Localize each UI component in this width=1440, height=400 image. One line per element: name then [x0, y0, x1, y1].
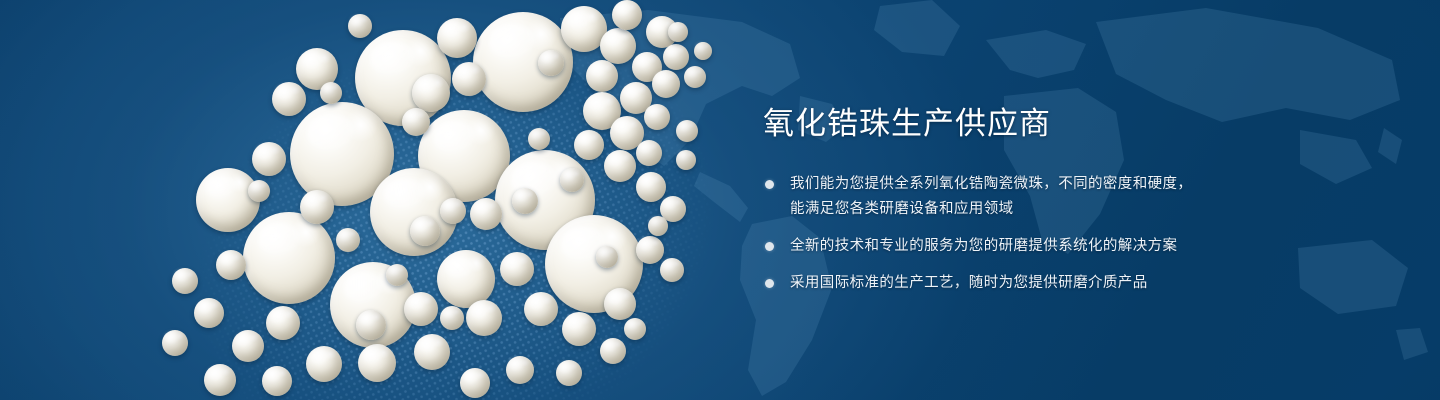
hero-banner: 氧化锆珠生产供应商 我们能为您提供全系列氧化锆陶瓷微珠，不同的密度和硬度， 能满…	[0, 0, 1440, 400]
list-item-line: 全新的技术和专业的服务为您的研磨提供系统化的解决方案	[790, 234, 1363, 259]
bullet-dot-icon	[765, 242, 774, 251]
page-title: 氧化锆珠生产供应商	[763, 104, 1363, 144]
list-item-line: 能满足您各类研磨设备和应用领域	[790, 197, 1363, 222]
bullet-dot-icon	[765, 279, 774, 288]
bullet-dot-icon	[765, 180, 774, 189]
list-item: 全新的技术和专业的服务为您的研磨提供系统化的解决方案	[763, 234, 1363, 259]
list-item: 我们能为您提供全系列氧化锆陶瓷微珠，不同的密度和硬度， 能满足您各类研磨设备和应…	[763, 172, 1363, 222]
list-item: 采用国际标准的生产工艺，随时为您提供研磨介质产品	[763, 271, 1363, 296]
banner-copy: 氧化锆珠生产供应商 我们能为您提供全系列氧化锆陶瓷微珠，不同的密度和硬度， 能满…	[763, 104, 1363, 296]
feature-list: 我们能为您提供全系列氧化锆陶瓷微珠，不同的密度和硬度， 能满足您各类研磨设备和应…	[763, 172, 1363, 296]
list-item-line: 我们能为您提供全系列氧化锆陶瓷微珠，不同的密度和硬度，	[790, 172, 1363, 197]
list-item-line: 采用国际标准的生产工艺，随时为您提供研磨介质产品	[790, 271, 1363, 296]
